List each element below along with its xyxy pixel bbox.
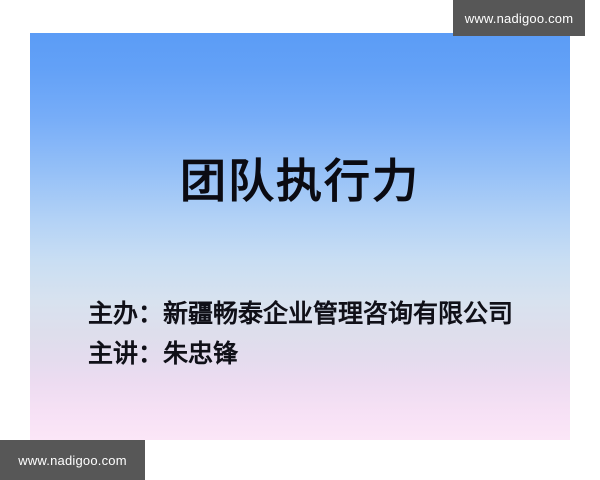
watermark-top-right: www.nadigoo.com: [453, 0, 585, 36]
subtitle-line-organizer: 主办：新疆畅泰企业管理咨询有限公司: [88, 295, 558, 335]
slide-title: 团队执行力: [30, 153, 570, 211]
slide-subtitle-block: 主办：新疆畅泰企业管理咨询有限公司 主讲：朱忠锋: [88, 295, 558, 375]
subtitle-line-speaker: 主讲：朱忠锋: [88, 335, 558, 375]
watermark-bottom-left: www.nadigoo.com: [0, 440, 145, 480]
watermark-top-right-label: www.nadigoo.com: [465, 11, 574, 26]
watermark-bottom-left-label: www.nadigoo.com: [18, 453, 127, 468]
screenshot-canvas: 团队执行力 主办：新疆畅泰企业管理咨询有限公司 主讲：朱忠锋 www.nadig…: [0, 0, 600, 480]
presentation-slide: 团队执行力 主办：新疆畅泰企业管理咨询有限公司 主讲：朱忠锋: [30, 33, 570, 440]
